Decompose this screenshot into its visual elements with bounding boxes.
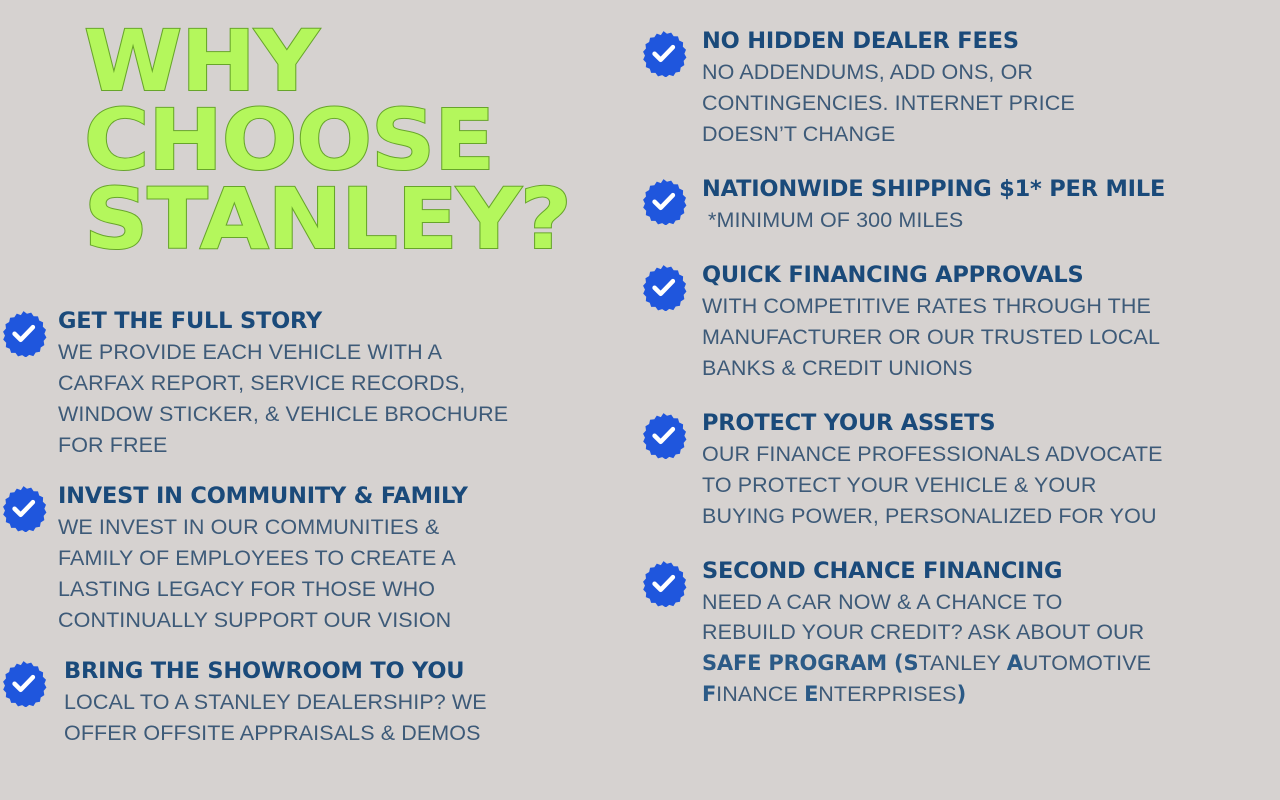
- acronym-regular-3: INANCE: [716, 682, 804, 706]
- poster-canvas: WHY CHOOSE STANLEY? GET THE FULL STORY W…: [0, 0, 1280, 800]
- benefit-title: GET THE FULL STORY: [58, 308, 620, 335]
- benefit-item-get-the-full-story: GET THE FULL STORY WE PROVIDE EACH VEHIC…: [0, 308, 620, 461]
- benefit-title: INVEST IN COMMUNITY & FAMILY: [58, 483, 620, 510]
- benefit-text-block: GET THE FULL STORY WE PROVIDE EACH VEHIC…: [47, 308, 620, 461]
- check-badge-icon: [640, 30, 687, 77]
- benefit-text-block: INVEST IN COMMUNITY & FAMILY WE INVEST I…: [47, 483, 620, 636]
- benefit-title: PROTECT YOUR ASSETS: [702, 410, 1280, 437]
- benefit-item-no-hidden-dealer-fees: NO HIDDEN DEALER FEES NO ADDENDUMS, ADD …: [640, 28, 1280, 150]
- benefit-description: NO ADDENDUMS, ADD ONS, OR CONTINGENCIES.…: [702, 57, 1280, 150]
- safe-program-acronym-line: SAFE PROGRAM (STANLEY AUTOMOTIVEFINANCE …: [702, 648, 1280, 710]
- benefit-item-second-chance-financing: SECOND CHANCE FINANCING NEED A CAR NOW &…: [640, 558, 1280, 711]
- benefit-item-invest-in-community-and-family: INVEST IN COMMUNITY & FAMILY WE INVEST I…: [0, 483, 620, 636]
- benefit-description: *MINIMUM OF 300 MILES: [702, 205, 1280, 236]
- acronym-regular-4: NTERPRISES: [818, 682, 956, 706]
- check-badge-icon: [0, 310, 47, 357]
- benefit-description: LOCAL TO A STANLEY DEALERSHIP? WE OFFER …: [64, 687, 620, 749]
- benefit-text-block: PROTECT YOUR ASSETS OUR FINANCE PROFESSI…: [687, 410, 1280, 532]
- benefit-text-block: SECOND CHANCE FINANCING NEED A CAR NOW &…: [687, 558, 1280, 711]
- benefit-title: SECOND CHANCE FINANCING: [702, 558, 1280, 585]
- acronym-regular-2: UTOMOTIVE: [1023, 651, 1151, 675]
- benefit-item-bring-the-showroom-to-you: BRING THE SHOWROOM TO YOU LOCAL TO A STA…: [0, 658, 620, 749]
- benefits-column-left: GET THE FULL STORY WE PROVIDE EACH VEHIC…: [0, 308, 620, 771]
- check-badge-icon: [640, 178, 687, 225]
- check-badge-icon: [640, 560, 687, 607]
- page-title: WHY CHOOSE STANLEY?: [84, 22, 635, 259]
- check-badge-icon: [0, 660, 47, 707]
- acronym-bold-5: ): [957, 682, 966, 706]
- benefit-item-quick-financing-approvals: QUICK FINANCING APPROVALS WITH COMPETITI…: [640, 262, 1280, 384]
- check-badge-icon: [640, 264, 687, 311]
- benefit-text-block: BRING THE SHOWROOM TO YOU LOCAL TO A STA…: [53, 658, 620, 749]
- benefit-description: OUR FINANCE PROFESSIONALS ADVOCATE TO PR…: [702, 439, 1280, 532]
- benefit-text-block: QUICK FINANCING APPROVALS WITH COMPETITI…: [687, 262, 1280, 384]
- acronym-bold-2: A: [1007, 651, 1023, 675]
- benefit-item-protect-your-assets: PROTECT YOUR ASSETS OUR FINANCE PROFESSI…: [640, 410, 1280, 532]
- benefit-item-nationwide-shipping: NATIONWIDE SHIPPING $1* PER MILE *MINIMU…: [640, 176, 1280, 236]
- acronym-bold-1: SAFE PROGRAM (S: [702, 651, 918, 675]
- benefit-text-block: NATIONWIDE SHIPPING $1* PER MILE *MINIMU…: [687, 176, 1280, 236]
- benefit-title: NATIONWIDE SHIPPING $1* PER MILE: [702, 176, 1280, 203]
- benefit-description: WITH COMPETITIVE RATES THROUGH THE MANUF…: [702, 291, 1280, 384]
- acronym-regular-1: TANLEY: [918, 651, 1006, 675]
- benefit-title: QUICK FINANCING APPROVALS: [702, 262, 1280, 289]
- benefits-column-right: NO HIDDEN DEALER FEES NO ADDENDUMS, ADD …: [640, 28, 1280, 736]
- acronym-bold-3: F: [702, 682, 716, 706]
- benefit-description: WE INVEST IN OUR COMMUNITIES & FAMILY OF…: [58, 512, 620, 636]
- benefit-title: NO HIDDEN DEALER FEES: [702, 28, 1280, 55]
- benefit-description: WE PROVIDE EACH VEHICLE WITH A CARFAX RE…: [58, 337, 620, 461]
- benefit-description: NEED A CAR NOW & A CHANCE TO REBUILD YOU…: [702, 587, 1280, 649]
- check-badge-icon: [640, 412, 687, 459]
- benefit-title: BRING THE SHOWROOM TO YOU: [64, 658, 620, 685]
- check-badge-icon: [0, 485, 47, 532]
- benefit-text-block: NO HIDDEN DEALER FEES NO ADDENDUMS, ADD …: [687, 28, 1280, 150]
- acronym-bold-4: E: [804, 682, 818, 706]
